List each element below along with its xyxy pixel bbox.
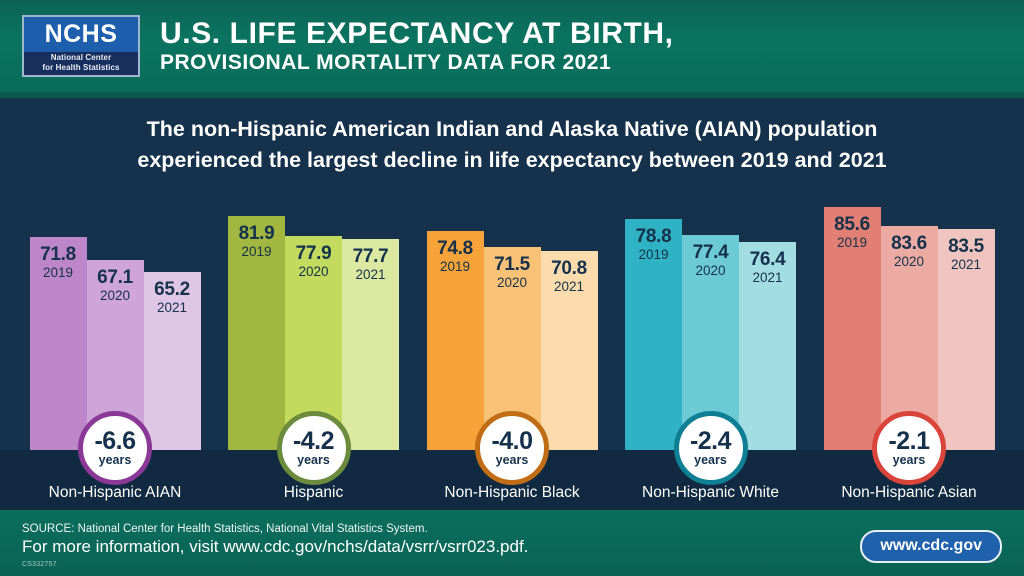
bar-value: 81.9 [228,224,285,244]
bar-group-asian: 85.6 2019 83.6 2020 83.5 2021 [820,178,998,510]
bar-value: 77.7 [342,247,399,267]
bar-value: 71.5 [484,255,541,275]
bar-label: 71.5 2020 [484,255,541,291]
bar-label: 85.6 2019 [824,215,881,251]
bar-label: 77.4 2020 [682,243,739,279]
decline-value: -2.1 [888,429,929,453]
category-label: Hispanic [211,484,417,502]
bar-year: 2019 [30,265,87,281]
bar-set: 74.8 2019 71.5 2020 70.8 2021 [423,178,601,450]
bar-2019[interactable]: 74.8 2019 [427,231,484,450]
bar-2019[interactable]: 78.8 2019 [625,219,682,450]
bar-2019[interactable]: 85.6 2019 [824,207,881,450]
more-info-text: For more information, visit www.cdc.gov/… [22,537,528,557]
bar-year: 2019 [824,235,881,251]
category-label: Non-Hispanic AIAN [12,484,218,502]
cdc-website-button[interactable]: www.cdc.gov [860,530,1002,563]
nchs-logo-subtext-block: National Center for Health Statistics [24,52,138,75]
decline-badge: -2.1 years [872,411,946,485]
bar-label: 65.2 2021 [144,280,201,316]
bar-year: 2020 [682,263,739,279]
bar-label: 78.8 2019 [625,227,682,263]
bar-group-white: 78.8 2019 77.4 2020 76.4 2021 [622,178,800,510]
bar-year: 2019 [228,244,285,260]
bar-year: 2020 [484,275,541,291]
decline-unit: years [99,454,132,467]
bar-value: 83.6 [881,234,938,254]
bar-group-black: 74.8 2019 71.5 2020 70.8 2021 [423,178,601,510]
header-title-group: U.S. LIFE EXPECTANCY AT BIRTH, PROVISION… [160,18,674,75]
page-title: U.S. LIFE EXPECTANCY AT BIRTH, [160,18,674,50]
bar-year: 2019 [625,247,682,263]
source-text: SOURCE: National Center for Health Stati… [22,522,428,536]
bar-value: 70.8 [541,259,598,279]
bar-set: 78.8 2019 77.4 2020 76.4 2021 [622,178,800,450]
bar-label: 76.4 2021 [739,250,796,286]
decline-unit: years [297,454,330,467]
nchs-logo-line2: for Health Statistics [42,63,119,73]
decline-badge: -6.6 years [78,411,152,485]
bar-2021[interactable]: 70.8 2021 [541,251,598,450]
category-label: Non-Hispanic White [608,484,814,502]
bar-label: 83.5 2021 [938,237,995,273]
nchs-logo: NCHS National Center for Health Statisti… [22,15,140,77]
decline-value: -2.4 [690,429,731,453]
bar-year: 2021 [938,257,995,273]
bar-label: 83.6 2020 [881,234,938,270]
page-subtitle: PROVISIONAL MORTALITY DATA FOR 2021 [160,51,674,75]
category-label: Non-Hispanic Black [409,484,615,502]
bar-2021[interactable]: 83.5 2021 [938,229,995,450]
cs-code: CS332757 [22,560,57,569]
bar-year: 2020 [881,254,938,270]
bar-year: 2021 [144,300,201,316]
decline-value: -6.6 [94,429,135,453]
nchs-logo-line1: National Center [51,53,112,63]
bar-label: 81.9 2019 [228,224,285,260]
bar-group-aian: 71.8 2019 67.1 2020 65.2 2021 [26,178,204,510]
bar-value: 78.8 [625,227,682,247]
bar-label: 70.8 2021 [541,259,598,295]
bar-value: 71.8 [30,245,87,265]
bar-set: 81.9 2019 77.9 2020 77.7 2021 [225,178,403,450]
bar-label: 77.7 2021 [342,247,399,283]
bar-value: 65.2 [144,280,201,300]
bar-value: 83.5 [938,237,995,257]
footer-bar: SOURCE: National Center for Health Stati… [0,510,1024,576]
bar-value: 77.4 [682,243,739,263]
bar-chart: 71.8 2019 67.1 2020 65.2 2021 [0,178,1024,510]
bar-year: 2019 [427,259,484,275]
nchs-logo-acronym: NCHS [45,22,118,47]
bar-year: 2020 [285,264,342,280]
bar-2019[interactable]: 71.8 2019 [30,237,87,450]
decline-badge: -4.2 years [277,411,351,485]
bar-set: 85.6 2019 83.6 2020 83.5 2021 [820,178,998,450]
decline-badge: -2.4 years [674,411,748,485]
bar-2021[interactable]: 77.7 2021 [342,239,399,450]
bar-year: 2021 [541,279,598,295]
header-bar: NCHS National Center for Health Statisti… [0,0,1024,92]
key-finding-text: The non-Hispanic American Indian and Ala… [0,114,1024,176]
key-finding-line1: The non-Hispanic American Indian and Ala… [0,114,1024,145]
bar-year: 2021 [739,270,796,286]
bar-group-hispanic: 81.9 2019 77.9 2020 77.7 2021 [225,178,403,510]
nchs-logo-acronym-block: NCHS [24,17,138,52]
bar-label: 77.9 2020 [285,244,342,280]
decline-value: -4.0 [491,429,532,453]
decline-badge: -4.0 years [475,411,549,485]
key-finding-line2: experienced the largest decline in life … [0,145,1024,176]
bar-label: 67.1 2020 [87,268,144,304]
bar-value: 77.9 [285,244,342,264]
bar-2019[interactable]: 81.9 2019 [228,216,285,450]
bar-value: 76.4 [739,250,796,270]
bar-value: 67.1 [87,268,144,288]
category-label: Non-Hispanic Asian [806,484,1012,502]
bar-value: 85.6 [824,215,881,235]
bar-label: 71.8 2019 [30,245,87,281]
bar-year: 2021 [342,267,399,283]
decline-unit: years [496,454,529,467]
decline-unit: years [893,454,926,467]
chart-panel: The non-Hispanic American Indian and Ala… [0,98,1024,510]
decline-unit: years [694,454,727,467]
bar-set: 71.8 2019 67.1 2020 65.2 2021 [26,178,204,450]
bar-2021[interactable]: 76.4 2021 [739,242,796,450]
decline-value: -4.2 [293,429,334,453]
bar-year: 2020 [87,288,144,304]
bar-value: 74.8 [427,239,484,259]
bar-label: 74.8 2019 [427,239,484,275]
infographic-poster: NCHS National Center for Health Statisti… [0,0,1024,576]
bar-2021[interactable]: 65.2 2021 [144,272,201,450]
